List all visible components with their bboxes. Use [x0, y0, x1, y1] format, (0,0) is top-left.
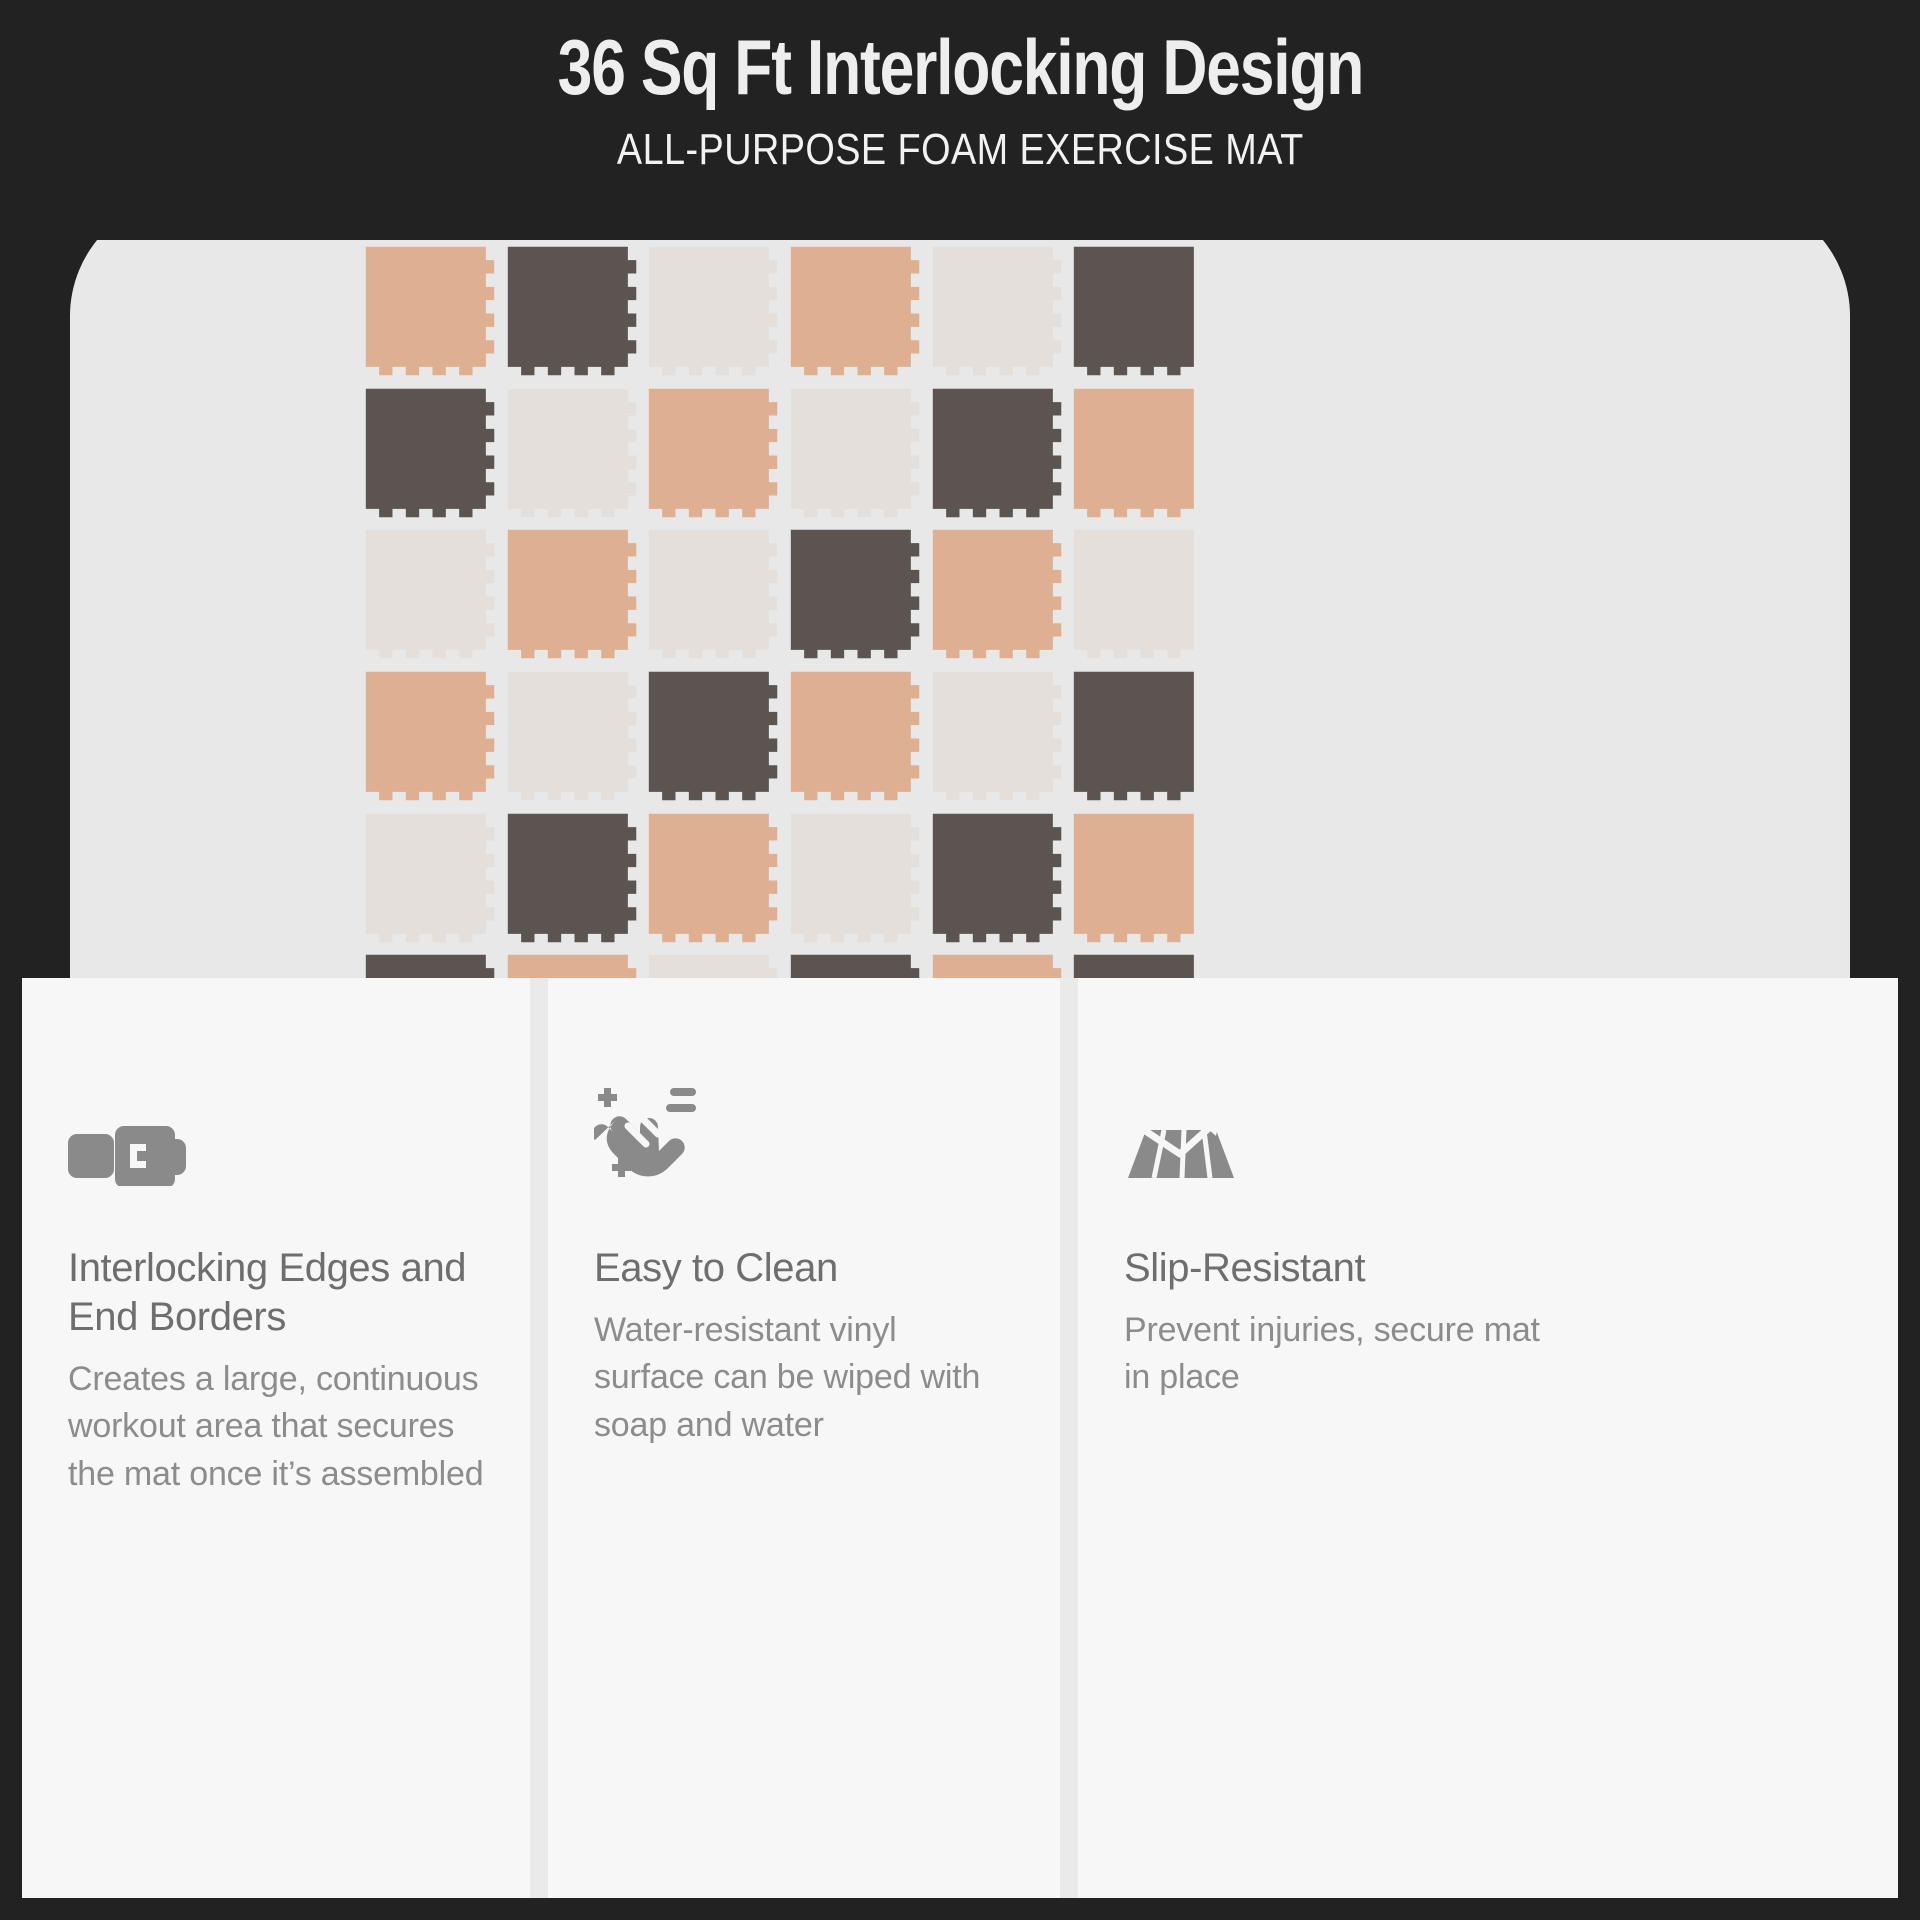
- mat-tile-r4-c1: [355, 661, 497, 803]
- mat-tile-grid: [355, 236, 1205, 1016]
- feature-title: Interlocking Edges and End Borders: [68, 1244, 484, 1342]
- page-subtitle: ALL-PURPOSE FOAM EXERCISE MAT: [617, 106, 1304, 172]
- infographic-page: 36 Sq Ft Interlocking Design ALL-PURPOSE…: [0, 0, 1920, 1920]
- mat-tile-r3-c1: [355, 519, 497, 661]
- mat-tile-r1-c5: [922, 236, 1064, 378]
- feature-card-interlocking-edges: Interlocking Edges and End Borders Creat…: [22, 978, 530, 1898]
- mat-tile-r4-c4: [780, 661, 922, 803]
- mat-tile-r3-c3: [638, 519, 780, 661]
- page-title: 36 Sq Ft Interlocking Design: [557, 0, 1362, 106]
- wiping-hand-sparkle-icon: [594, 1090, 1014, 1186]
- mat-tile-r1-c4: [780, 236, 922, 378]
- mat-tile-r2-c2: [497, 378, 639, 520]
- mat-tile-r5-c6: [1063, 803, 1205, 945]
- card-divider: [1060, 978, 1078, 1898]
- feature-row-spacer: [1590, 978, 1898, 1898]
- mat-tile-r3-c4: [780, 519, 922, 661]
- feature-description: Water-resistant vinyl surface can be wip…: [594, 1307, 1014, 1450]
- mat-tile-r4-c6: [1063, 661, 1205, 803]
- interlocking-puzzle-pieces-icon: [68, 1090, 484, 1186]
- feature-title: Easy to Clean: [594, 1244, 1014, 1293]
- foam-mat-image: [355, 236, 1205, 1016]
- mat-with-arrow-icon: [1124, 1090, 1544, 1186]
- mat-tile-r1-c2: [497, 236, 639, 378]
- mat-tile-r1-c6: [1063, 236, 1205, 378]
- feature-title: Slip-Resistant: [1124, 1244, 1544, 1293]
- mat-tile-r4-c2: [497, 661, 639, 803]
- mat-tile-r2-c6: [1063, 378, 1205, 520]
- mat-tile-r4-c3: [638, 661, 780, 803]
- mat-tile-r5-c3: [638, 803, 780, 945]
- header-banner: 36 Sq Ft Interlocking Design ALL-PURPOSE…: [0, 0, 1920, 240]
- mat-tile-r2-c4: [780, 378, 922, 520]
- mat-tile-r3-c5: [922, 519, 1064, 661]
- mat-tile-r5-c5: [922, 803, 1064, 945]
- feature-cards-row: Interlocking Edges and End Borders Creat…: [22, 978, 1898, 1898]
- mat-tile-r1-c3: [638, 236, 780, 378]
- feature-description: Creates a large, continuous workout area…: [68, 1356, 484, 1499]
- mat-tile-r3-c6: [1063, 519, 1205, 661]
- mat-tile-r5-c2: [497, 803, 639, 945]
- mat-tile-r2-c5: [922, 378, 1064, 520]
- mat-tile-r2-c1: [355, 378, 497, 520]
- mat-tile-r5-c1: [355, 803, 497, 945]
- feature-card-easy-to-clean: Easy to Clean Water-resistant vinyl surf…: [548, 978, 1060, 1898]
- mat-tile-r1-c1: [355, 236, 497, 378]
- feature-description: Prevent injuries, secure mat in place: [1124, 1307, 1544, 1402]
- mat-tile-r4-c5: [922, 661, 1064, 803]
- card-divider: [530, 978, 548, 1898]
- mat-tile-r5-c4: [780, 803, 922, 945]
- feature-card-slip-resistant: Slip-Resistant Prevent injuries, secure …: [1078, 978, 1590, 1898]
- mat-tile-r3-c2: [497, 519, 639, 661]
- mat-tile-r2-c3: [638, 378, 780, 520]
